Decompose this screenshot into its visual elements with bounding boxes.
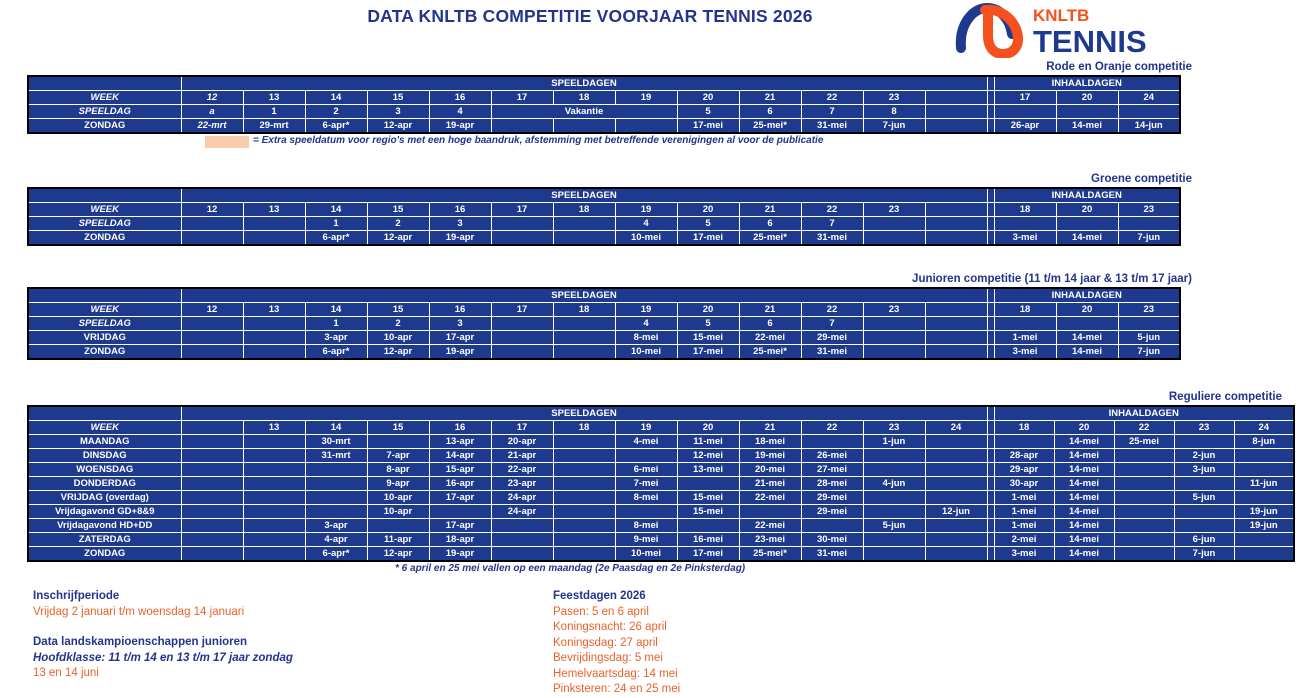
column-gap	[987, 91, 994, 105]
speeldag-cell	[491, 217, 553, 231]
date-cell: 15-mei	[677, 505, 739, 519]
date-cell: 19-apr	[429, 547, 491, 562]
speeldag-cell	[181, 317, 243, 331]
week-cell: 22	[801, 203, 863, 217]
week-cell: 20	[1056, 91, 1118, 105]
speeldag-cell	[1118, 317, 1180, 331]
date-cell: 17-mei	[677, 547, 739, 562]
date-cell: 19-mei	[739, 449, 801, 463]
table-row: MAANDAG30-mrt13-apr20-apr4-mei11-mei18-m…	[28, 435, 1294, 449]
week-cell: 16	[429, 421, 491, 435]
feestdag-item: Pasen: 5 en 6 april	[553, 605, 680, 621]
date-cell: 23-mei	[739, 533, 801, 547]
date-cell: 18-mei	[739, 435, 801, 449]
banner-speeldagen: SPEELDAGEN	[181, 288, 987, 303]
date-cell	[305, 505, 367, 519]
date-cell: 30-mrt	[305, 435, 367, 449]
date-cell	[367, 435, 429, 449]
week-cell: 12	[181, 303, 243, 317]
date-cell: 29-mei	[801, 505, 863, 519]
date-cell	[181, 519, 243, 533]
date-cell: 19-apr	[429, 345, 491, 360]
week-cell: 18	[553, 303, 615, 317]
column-gap	[987, 477, 994, 491]
date-cell: 26-mei	[801, 449, 863, 463]
table-row: ZATERDAG4-apr11-apr18-apr9-mei16-mei23-m…	[28, 533, 1294, 547]
date-cell: 29-mei	[801, 491, 863, 505]
week-cell: 14	[305, 203, 367, 217]
schedule-table-groene: SPEELDAGENINHAALDAGENWEEK121314151617181…	[27, 187, 1181, 246]
table-row: Vrijdagavond HD+DD3-apr17-apr8-mei22-mei…	[28, 519, 1294, 533]
row-label: ZATERDAG	[28, 533, 181, 547]
date-cell	[553, 505, 615, 519]
date-cell	[994, 435, 1054, 449]
week-cell: 24	[925, 421, 987, 435]
date-cell	[305, 463, 367, 477]
column-gap	[987, 505, 994, 519]
week-cell: 13	[243, 421, 305, 435]
speeldag-cell	[863, 217, 925, 231]
banner-row: SPEELDAGENINHAALDAGEN	[28, 188, 1180, 203]
date-cell	[429, 505, 491, 519]
date-cell	[925, 491, 987, 505]
row-label: VRIJDAG (overdag)	[28, 491, 181, 505]
week-cell: 19	[615, 303, 677, 317]
date-cell	[181, 449, 243, 463]
table-block-reguliere: Reguliere competitie SPEELDAGENINHAALDAG…	[27, 390, 1295, 578]
date-cell: 6-jun	[1174, 533, 1234, 547]
date-cell: 8-jun	[1234, 435, 1294, 449]
row-label: MAANDAG	[28, 435, 181, 449]
date-cell	[181, 345, 243, 360]
table-footnote: * 6 april en 25 mei vallen op een maanda…	[395, 563, 745, 574]
date-cell: 17-apr	[429, 331, 491, 345]
date-cell: 8-mei	[615, 519, 677, 533]
week-cell: 20	[677, 421, 739, 435]
date-cell: 14-mei	[1054, 491, 1114, 505]
week-cell: 21	[739, 203, 801, 217]
date-cell: 8-mei	[615, 331, 677, 345]
date-cell: 11-jun	[1234, 477, 1294, 491]
date-cell: 5-jun	[863, 519, 925, 533]
week-cell: 20	[677, 91, 739, 105]
week-cell: 15	[367, 421, 429, 435]
date-cell: 31-mei	[801, 231, 863, 246]
date-cell	[739, 505, 801, 519]
week-cell: 21	[739, 303, 801, 317]
speeldag-cell: 1	[305, 217, 367, 231]
feestdag-item: Pinksteren: 24 en 25 mei	[553, 682, 680, 698]
date-cell: 12-jun	[925, 505, 987, 519]
table-row: ZONDAG6-apr*12-apr19-apr10-mei17-mei25-m…	[28, 345, 1180, 360]
date-cell: 21-apr	[491, 449, 553, 463]
week-cell: 16	[429, 303, 491, 317]
date-cell: 29-apr	[994, 463, 1054, 477]
date-cell	[863, 231, 925, 246]
week-cell: 23	[1118, 203, 1180, 217]
date-cell	[925, 345, 987, 360]
date-cell: 10-mei	[615, 547, 677, 562]
column-gap	[987, 547, 994, 562]
speeldag-cell: 1	[305, 317, 367, 331]
knltb-logo: KNLTB TENNIS	[955, 2, 1170, 58]
column-gap	[987, 491, 994, 505]
date-cell: 3-mei	[994, 547, 1054, 562]
speeldag-cell: 7	[801, 217, 863, 231]
date-cell: 2-mei	[994, 533, 1054, 547]
date-cell	[1114, 505, 1174, 519]
feestdag-item: Koningsnacht: 26 april	[553, 620, 680, 636]
table-caption: Junioren competitie (11 t/m 14 jaar & 13…	[27, 272, 1194, 287]
date-cell: 22-mei	[739, 331, 801, 345]
date-cell: 25-mei*	[739, 231, 801, 246]
date-cell	[1174, 505, 1234, 519]
date-cell	[615, 505, 677, 519]
date-cell: 1-mei	[994, 519, 1054, 533]
date-cell: 31-mei	[801, 119, 863, 134]
bottom-right-text: Feestdagen 2026 Pasen: 5 en 6 aprilKonin…	[553, 589, 680, 698]
date-cell: 7-mei	[615, 477, 677, 491]
table-footnote: = Extra speeldatum voor regio's met een …	[253, 135, 823, 146]
date-cell: 11-mei	[677, 435, 739, 449]
date-cell	[863, 505, 925, 519]
week-cell: 20	[1056, 203, 1118, 217]
week-cell: 23	[1118, 303, 1180, 317]
date-cell: 23-apr	[491, 477, 553, 491]
speeldag-cell	[1056, 217, 1118, 231]
date-cell: 29-mrt	[243, 119, 305, 134]
date-cell	[1174, 477, 1234, 491]
date-cell: 5-jun	[1174, 491, 1234, 505]
speeldag-cell: a	[181, 105, 243, 119]
date-cell: 17-mei	[677, 345, 739, 360]
banner-row: SPEELDAGENINHAALDAGEN	[28, 288, 1180, 303]
week-cell: 23	[863, 421, 925, 435]
date-cell	[243, 435, 305, 449]
week-cell: 18	[994, 421, 1054, 435]
table-row: DONDERDAG9-apr16-apr23-apr7-mei21-mei28-…	[28, 477, 1294, 491]
week-cell: 18	[553, 421, 615, 435]
date-cell	[553, 519, 615, 533]
column-gap	[987, 217, 994, 231]
date-cell: 1-mei	[994, 491, 1054, 505]
column-gap	[987, 421, 994, 435]
week-cell: 17	[491, 91, 553, 105]
date-cell: 2-jun	[1174, 449, 1234, 463]
week-cell	[925, 91, 987, 105]
week-cell: 17	[491, 203, 553, 217]
table-row: VRIJDAG3-apr10-apr17-apr8-mei15-mei22-me…	[28, 331, 1180, 345]
feestdag-item: Hemelvaartsdag: 14 mei	[553, 667, 680, 683]
date-cell	[491, 331, 553, 345]
date-cell: 31-mei	[801, 547, 863, 562]
date-cell	[243, 547, 305, 562]
date-cell: 30-mei	[801, 533, 863, 547]
row-label: ZONDAG	[28, 345, 181, 360]
date-cell: 10-apr	[367, 505, 429, 519]
date-cell: 14-mei	[1056, 119, 1118, 134]
date-cell	[491, 533, 553, 547]
date-cell	[863, 491, 925, 505]
speeldag-cell: 2	[305, 105, 367, 119]
speeldag-cell: 6	[739, 317, 801, 331]
date-cell	[863, 533, 925, 547]
week-cell: 18	[994, 203, 1056, 217]
date-cell: 29-mei	[801, 331, 863, 345]
landskampioenschappen-detail: Hoofdklasse: 11 t/m 14 en 13 t/m 17 jaar…	[33, 651, 293, 667]
banner-spacer	[28, 76, 181, 91]
date-cell: 14-mei	[1054, 449, 1114, 463]
row-label: DINSDAG	[28, 449, 181, 463]
column-gap	[987, 533, 994, 547]
date-cell: 20-mei	[739, 463, 801, 477]
date-cell: 14-mei	[1056, 231, 1118, 246]
banner-inhaaldagen: INHAALDAGEN	[994, 406, 1294, 421]
week-cell: 12	[181, 203, 243, 217]
date-cell	[863, 449, 925, 463]
week-cell: 19	[615, 421, 677, 435]
speeldag-cell: 5	[677, 317, 739, 331]
speeldag-cell: 7	[801, 105, 863, 119]
date-cell	[553, 449, 615, 463]
date-cell	[1114, 491, 1174, 505]
speeldag-cell: 2	[367, 317, 429, 331]
date-cell	[1114, 533, 1174, 547]
week-cell: 17	[994, 91, 1056, 105]
date-cell: 14-mei	[1054, 505, 1114, 519]
week-cell: 19	[615, 203, 677, 217]
date-cell: 22-mei	[739, 519, 801, 533]
week-cell: 20	[677, 303, 739, 317]
week-cell: 16	[429, 203, 491, 217]
schedule-table-rode-en-oranje: SPEELDAGENINHAALDAGENWEEK121314151617181…	[27, 75, 1181, 134]
speeldag-cell: 4	[615, 317, 677, 331]
date-cell	[925, 435, 987, 449]
date-cell	[243, 533, 305, 547]
column-gap	[987, 288, 994, 303]
week-cell: 22	[801, 91, 863, 105]
date-cell	[1174, 435, 1234, 449]
week-cell: 23	[1174, 421, 1234, 435]
date-cell: 7-apr	[367, 449, 429, 463]
date-cell: 10-mei	[615, 231, 677, 246]
speeldag-cell	[863, 317, 925, 331]
week-cell: 16	[429, 91, 491, 105]
date-cell: 31-mrt	[305, 449, 367, 463]
speeldag-cell: 4	[429, 105, 491, 119]
date-cell: 15-apr	[429, 463, 491, 477]
week-cell: 18	[553, 91, 615, 105]
date-cell	[1234, 463, 1294, 477]
speeldag-cell: 3	[429, 317, 491, 331]
date-cell	[925, 477, 987, 491]
week-cell: 20	[1054, 421, 1114, 435]
banner-speeldagen: SPEELDAGEN	[181, 406, 987, 421]
speeldag-cell	[491, 317, 553, 331]
date-cell	[1234, 491, 1294, 505]
date-cell: 20-apr	[491, 435, 553, 449]
date-cell	[863, 463, 925, 477]
date-cell: 21-mei	[739, 477, 801, 491]
banner-row: SPEELDAGENINHAALDAGEN	[28, 76, 1180, 91]
week-cell	[925, 203, 987, 217]
date-cell: 26-apr	[994, 119, 1056, 134]
feestdag-item: Bevrijdingsdag: 5 mei	[553, 651, 680, 667]
date-cell: 13-apr	[429, 435, 491, 449]
column-gap	[987, 331, 994, 345]
column-gap	[987, 317, 994, 331]
row-label: ZONDAG	[28, 231, 181, 246]
date-cell	[1234, 533, 1294, 547]
date-cell: 14-mei	[1056, 331, 1118, 345]
knltb-logo-graphic: KNLTB TENNIS	[955, 2, 1170, 58]
speeldag-cell: 6	[739, 105, 801, 119]
speeldag-cell	[994, 105, 1056, 119]
speeldag-cell: 5	[677, 217, 739, 231]
week-cell: 15	[367, 203, 429, 217]
date-cell	[925, 119, 987, 134]
date-cell: 25-mei*	[739, 119, 801, 134]
week-cell: 23	[863, 91, 925, 105]
date-cell	[553, 533, 615, 547]
week-cell: 18	[553, 203, 615, 217]
row-label: ZONDAG	[28, 119, 181, 134]
table-row: DINSDAG31-mrt7-apr14-apr21-apr12-mei19-m…	[28, 449, 1294, 463]
date-cell: 6-mei	[615, 463, 677, 477]
date-cell: 9-apr	[367, 477, 429, 491]
row-label-speeldag: SPEELDAG	[28, 217, 181, 231]
date-cell: 19-jun	[1234, 519, 1294, 533]
week-cell: 22	[801, 421, 863, 435]
date-cell	[553, 435, 615, 449]
date-cell: 7-jun	[1118, 231, 1180, 246]
week-cell: 17	[491, 303, 553, 317]
table-caption: Rode en Oranje competitie	[27, 60, 1194, 75]
column-gap	[987, 435, 994, 449]
week-row: WEEK121314151617181920212223182023	[28, 303, 1180, 317]
date-cell: 6-apr*	[305, 547, 367, 562]
banner-row: SPEELDAGENINHAALDAGEN	[28, 406, 1294, 421]
column-gap	[987, 345, 994, 360]
date-cell	[553, 463, 615, 477]
speeldag-row: SPEELDAG1234567	[28, 317, 1180, 331]
date-cell	[243, 449, 305, 463]
date-cell: 12-apr	[367, 345, 429, 360]
speeldag-cell	[994, 317, 1056, 331]
week-cell: 14	[305, 421, 367, 435]
speeldag-vakantie: Vakantie	[491, 105, 677, 119]
date-cell: 31-mei	[801, 345, 863, 360]
column-gap	[987, 119, 994, 134]
row-label: DONDERDAG	[28, 477, 181, 491]
week-cell: 15	[367, 91, 429, 105]
schedule-page: DATA KNLTB COMPETITIE VOORJAAR TENNIS 20…	[0, 0, 1309, 698]
week-cell: 15	[367, 303, 429, 317]
date-cell	[553, 547, 615, 562]
date-cell: 3-apr	[305, 331, 367, 345]
date-cell: 3-apr	[305, 519, 367, 533]
date-cell	[1114, 463, 1174, 477]
date-cell: 1-mei	[994, 505, 1054, 519]
inschrijfperiode-value: Vrijdag 2 januari t/m woensdag 14 januar…	[33, 605, 293, 621]
week-cell: 22	[801, 303, 863, 317]
speeldag-cell: 5	[677, 105, 739, 119]
date-cell	[863, 331, 925, 345]
date-cell	[243, 477, 305, 491]
speeldag-cell: 1	[243, 105, 305, 119]
date-cell	[925, 533, 987, 547]
date-cell: 14-mei	[1056, 345, 1118, 360]
date-cell: 22-apr	[491, 463, 553, 477]
banner-inhaaldagen: INHAALDAGEN	[994, 288, 1180, 303]
date-cell: 11-apr	[367, 533, 429, 547]
date-cell: 10-apr	[367, 331, 429, 345]
date-cell	[181, 463, 243, 477]
table-row: WOENSDAG8-apr15-apr22-apr6-mei13-mei20-m…	[28, 463, 1294, 477]
landskampioenschappen-heading: Data landskampioenschappen junioren	[33, 635, 293, 651]
date-cell: 17-apr	[429, 519, 491, 533]
row-label: ZONDAG	[28, 547, 181, 562]
schedule-table-junioren: SPEELDAGENINHAALDAGENWEEK121314151617181…	[27, 287, 1181, 360]
date-cell: 6-apr*	[305, 231, 367, 246]
date-cell: 15-mei	[677, 331, 739, 345]
date-cell: 10-mei	[615, 345, 677, 360]
date-cell	[181, 533, 243, 547]
date-cell: 1-jun	[863, 435, 925, 449]
date-cell	[553, 477, 615, 491]
date-cell: 3-jun	[1174, 463, 1234, 477]
date-cell	[491, 119, 553, 134]
date-cell	[1114, 519, 1174, 533]
table-row: VRIJDAG (overdag)10-apr17-apr24-apr8-mei…	[28, 491, 1294, 505]
speeldag-row: SPEELDAGa1234Vakantie5678	[28, 105, 1180, 119]
date-cell	[181, 477, 243, 491]
column-gap	[987, 406, 994, 421]
column-gap	[987, 105, 994, 119]
date-cell: 22-mrt	[181, 119, 243, 134]
row-label: Vrijdagavond GD+8&9	[28, 505, 181, 519]
date-cell	[863, 345, 925, 360]
speeldag-cell	[553, 317, 615, 331]
bottom-left-text: Inschrijfperiode Vrijdag 2 januari t/m w…	[33, 589, 293, 682]
date-cell: 25-mei*	[739, 547, 801, 562]
date-cell	[553, 231, 615, 246]
column-gap	[987, 203, 994, 217]
landskampioenschappen-dates: 13 en 14 juni	[33, 666, 293, 682]
speeldag-cell	[553, 217, 615, 231]
row-label-speeldag: SPEELDAG	[28, 317, 181, 331]
date-cell: 7-jun	[863, 119, 925, 134]
table-caption: Reguliere competitie	[27, 390, 1284, 405]
date-cell: 14-mei	[1054, 547, 1114, 562]
week-row: WEEK121314151617181920212223182023	[28, 203, 1180, 217]
banner-spacer	[28, 406, 181, 421]
speeldag-cell: 7	[801, 317, 863, 331]
column-gap	[987, 76, 994, 91]
date-cell: 13-mei	[677, 463, 739, 477]
date-cell	[243, 491, 305, 505]
speeldag-cell: 8	[863, 105, 925, 119]
speeldag-cell: 3	[367, 105, 429, 119]
speeldag-row: SPEELDAG1234567	[28, 217, 1180, 231]
date-cell: 28-apr	[994, 449, 1054, 463]
table-caption: Groene competitie	[27, 172, 1194, 187]
date-cell: 27-mei	[801, 463, 863, 477]
date-cell: 17-mei	[677, 119, 739, 134]
week-cell: 20	[677, 203, 739, 217]
date-cell: 30-apr	[994, 477, 1054, 491]
date-cell: 24-apr	[491, 505, 553, 519]
